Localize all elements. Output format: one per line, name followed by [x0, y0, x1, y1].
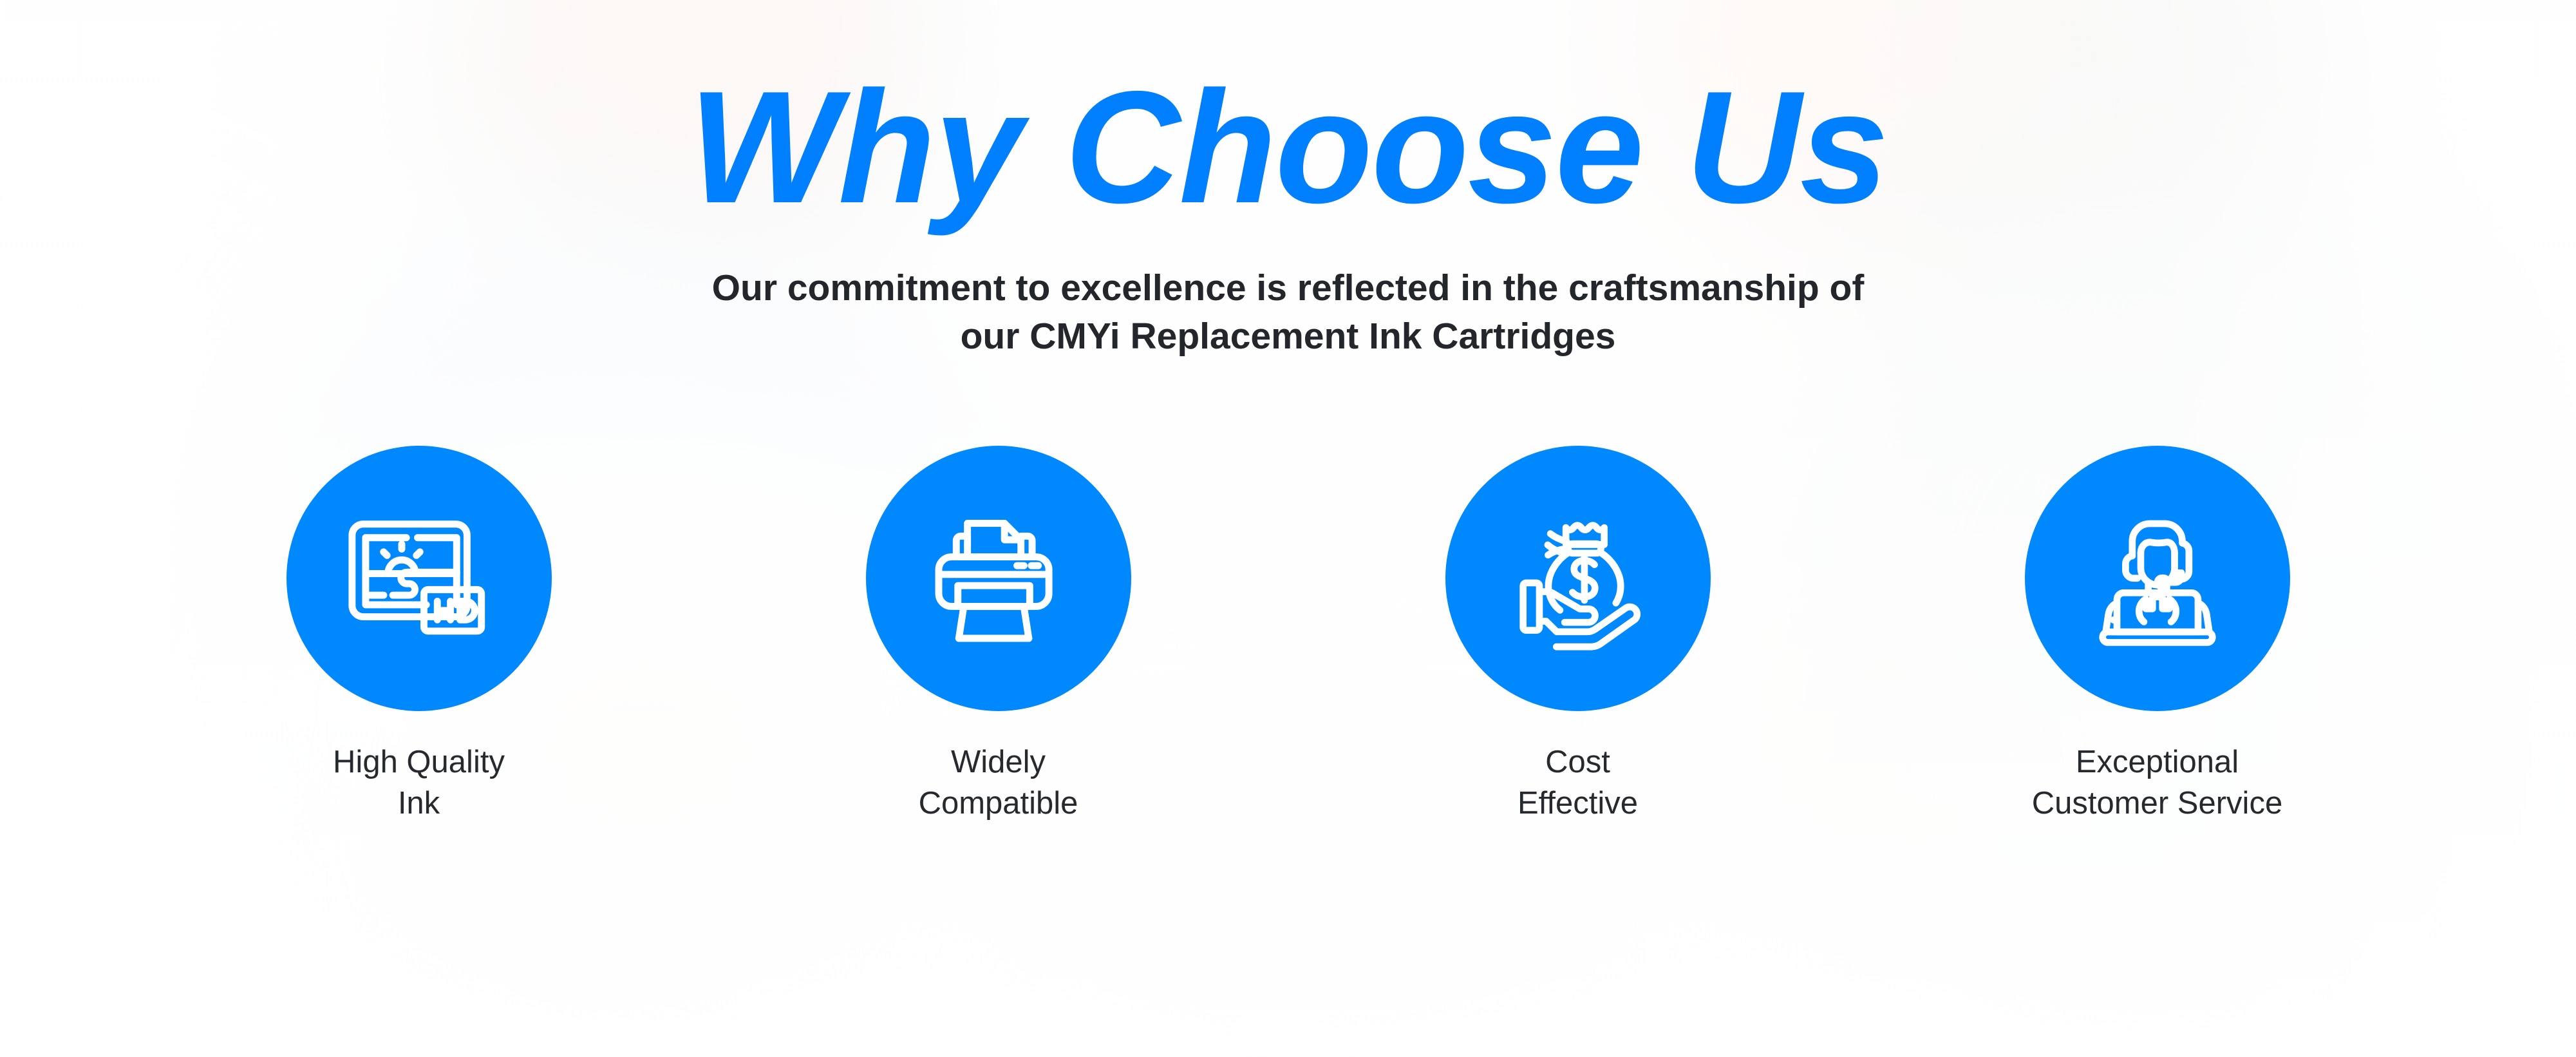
- page-subtitle-line-1: Our commitment to excellence is reflecte…: [712, 264, 1865, 312]
- feature-badge-1: [287, 446, 552, 711]
- feature-item-cost-effective[interactable]: Cost Effective: [1288, 446, 1868, 824]
- feature-label-3: Cost Effective: [1518, 742, 1638, 824]
- feature-item-high-quality-ink[interactable]: High Quality Ink: [129, 446, 709, 824]
- feature-label-1: High Quality Ink: [333, 742, 505, 824]
- feature-badge-4: [2025, 446, 2290, 711]
- feature-list: High Quality Ink: [0, 446, 2576, 824]
- page-title: Why Choose Us: [689, 67, 1888, 227]
- feature-badge-2: [866, 446, 1131, 711]
- hd-image-icon: [339, 499, 499, 658]
- feature-badge-3: [1445, 446, 1711, 711]
- feature-label-4: Exceptional Customer Service: [2032, 742, 2282, 824]
- feature-item-customer-service[interactable]: Exceptional Customer Service: [1868, 446, 2447, 824]
- banner-content: Why Choose Us Our commitment to excellen…: [0, 0, 2576, 1057]
- support-agent-headset-icon: [2078, 499, 2237, 658]
- feature-label-2: Widely Compatible: [919, 742, 1078, 824]
- feature-item-widely-compatible[interactable]: Widely Compatible: [709, 446, 1288, 824]
- printer-icon: [919, 499, 1078, 658]
- money-bag-in-hand-icon: [1498, 499, 1658, 658]
- page-subtitle-line-2: our CMYi Replacement Ink Cartridges: [712, 312, 1865, 361]
- page-subtitle: Our commitment to excellence is reflecte…: [712, 264, 1865, 361]
